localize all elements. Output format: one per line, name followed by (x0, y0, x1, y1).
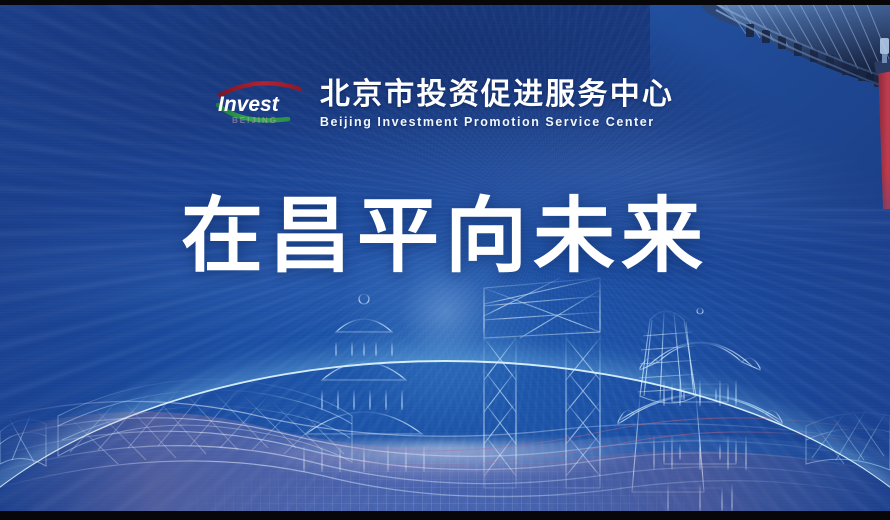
page-title: 在昌平向未来 (0, 196, 890, 278)
org-name-chinese: 北京市投资促进服务中心 (320, 79, 674, 110)
brand-lockup: Invest BEIJING 北京市投资促进服务中心 Beijing Inves… (216, 78, 674, 130)
brand-titles: 北京市投资促进服务中心 Beijing Investment Promotion… (320, 78, 674, 129)
letterbox-bar-bottom (0, 511, 890, 520)
logo-sub-wordmark: BEIJING (232, 116, 278, 125)
banner-slide: Invest BEIJING 北京市投资促进服务中心 Beijing Inves… (0, 0, 890, 520)
org-name-english: Beijing Investment Promotion Service Cen… (320, 115, 674, 129)
letterbox-bar-top (0, 0, 890, 5)
logo-wordmark: Invest (218, 93, 280, 116)
brand-header: Invest BEIJING 北京市投资促进服务中心 Beijing Inves… (0, 78, 890, 130)
invest-beijing-logo-icon: Invest BEIJING (216, 78, 306, 130)
light-ribbon-waves (0, 350, 890, 520)
